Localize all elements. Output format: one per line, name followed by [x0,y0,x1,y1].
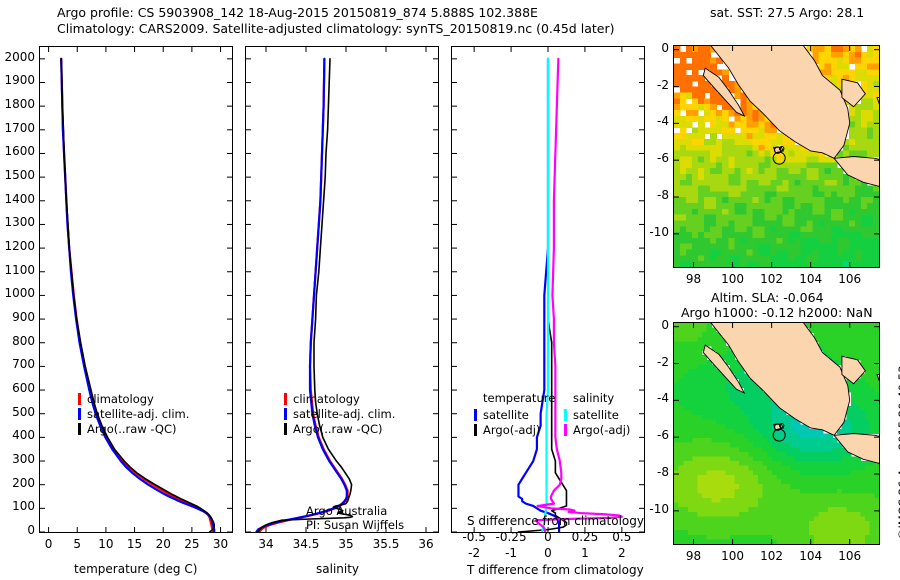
tick-label: 1100 [4,263,35,277]
tick-label: -8 [657,188,669,202]
sla-map-plot [674,323,879,544]
figure-title-line2: Climatology: CARS2009. Satellite-adjuste… [57,21,614,36]
tick-label: 35.5 [373,537,400,551]
sla-map-title-line1: Altim. SLA: -0.064 [711,290,824,305]
tick-label: 1900 [4,73,35,87]
legend-group-header: temperature [474,391,564,407]
tick-label: 400 [12,428,35,442]
temperature-profile-plot [40,47,232,532]
legend-swatch-argo-raw [78,423,81,435]
legend-label: Argo(-adj) [483,423,540,437]
tick-label: -1 [505,546,517,560]
legend-item: satellite-adj. clim. [284,406,395,421]
tick-label: 600 [12,381,35,395]
tick-label: -8 [657,465,669,479]
legend-label: climatology [87,392,154,406]
tick-label: 102 [760,549,783,563]
tick-label: 34 [258,537,273,551]
legend-item: climatology [78,391,189,406]
legend-group-header: salinity [564,391,654,407]
legend-label: climatology [293,392,360,406]
tick-label: 15 [127,537,142,551]
tick-label: 1 [581,546,589,560]
difference-s-axis-label: S difference from climatology [467,514,644,528]
sst-map-title: sat. SST: 27.5 Argo: 28.1 [710,5,864,20]
tick-label: 2 [618,546,626,560]
legend-item: satellite [564,407,654,422]
tick-label: 2000 [4,50,35,64]
tick-label: 800 [12,334,35,348]
legend-item: Argo(-adj) [474,422,564,437]
legend-swatch-temperature-argo-adj [474,424,477,436]
tick-label: -0.5 [462,530,485,544]
tick-label: -10 [649,225,669,239]
legend-item: satellite-adj. clim. [78,406,189,421]
legend-swatch-salinity-argo-adj [564,424,567,436]
tick-label: 35 [338,537,353,551]
salinity-profile-plot [246,47,438,532]
sst-map-plot [674,46,879,267]
legend-label: satellite [573,408,619,422]
legend-item: Argo(-adj) [564,422,654,437]
sla-map-panel [673,322,880,545]
difference-legend-col-temperature: temperature satellite Argo(-adj) [474,391,564,437]
tick-label: 0.25 [572,530,599,544]
tick-label: 1000 [4,286,35,300]
tick-label: 104 [799,549,822,563]
difference-legend-col-salinity: salinity satellite Argo(-adj) [564,391,654,437]
legend-label: satellite [483,408,529,422]
tick-label: 0 [27,523,35,537]
tick-label: 300 [12,452,35,466]
difference-profile-plot [452,47,644,532]
tick-label: 0 [544,546,552,560]
salinity-x-axis-label: salinity [316,562,359,576]
legend-label: Argo(..raw -QC) [87,422,177,436]
tick-label: 1700 [4,121,35,135]
tick-label: 200 [12,476,35,490]
salinity-legend: climatology satellite-adj. clim. Argo(..… [284,391,395,436]
tick-label: 102 [760,272,783,286]
legend-swatch-climatology [284,393,287,405]
tick-label: 30 [213,537,228,551]
tick-label: 1200 [4,239,35,253]
tick-label: 36 [418,537,433,551]
tick-label: -4 [657,114,669,128]
tick-label: 0 [544,530,552,544]
tick-label: -0.25 [496,530,527,544]
legend-swatch-satellite-adj-clim [78,408,81,420]
legend-label: Argo(..raw -QC) [293,422,383,436]
tick-label: 1500 [4,168,35,182]
temperature-profile-panel [39,46,233,533]
copyright-notice: ©IMOS 26-Aug-2015 20:40:53 [896,365,900,540]
legend-item: Argo(..raw -QC) [78,421,189,436]
tick-label: -2 [468,546,480,560]
program-attribution-line2: PI: Susan Wijffels [306,518,404,532]
legend-swatch-satellite-adj-clim [284,408,287,420]
program-attribution-line1: Argo Australia [306,504,387,518]
legend-item: satellite [474,407,564,422]
tick-label: 25 [184,537,199,551]
tick-label: 5 [73,537,81,551]
tick-label: 100 [721,549,744,563]
legend-swatch-argo-raw [284,423,287,435]
difference-t-axis-label: T difference from climatology [467,563,644,577]
difference-legend: temperature satellite Argo(-adj) salinit… [474,391,654,437]
tick-label: 1300 [4,215,35,229]
tick-label: 100 [721,272,744,286]
tick-label: -4 [657,391,669,405]
tick-label: 104 [799,272,822,286]
tick-label: 0 [45,537,53,551]
tick-label: 700 [12,357,35,371]
legend-item: Argo(..raw -QC) [284,421,395,436]
sst-map-panel [673,45,880,268]
tick-label: -2 [657,78,669,92]
tick-label: 98 [686,272,701,286]
sla-map-title-line2: Argo h1000: -0.12 h2000: NaN [681,305,873,320]
tick-label: 1800 [4,97,35,111]
tick-label: 34.5 [293,537,320,551]
difference-profile-panel [451,46,645,533]
legend-swatch-salinity-satellite [564,409,567,421]
tick-label: -2 [657,355,669,369]
tick-label: 0.5 [612,530,631,544]
tick-label: -10 [649,502,669,516]
tick-label: 106 [838,272,861,286]
tick-label: 0 [661,318,669,332]
tick-label: 106 [838,549,861,563]
tick-label: 100 [12,499,35,513]
figure-title-line1: Argo profile: CS 5903908_142 18-Aug-2015… [57,5,538,20]
tick-label: 10 [98,537,113,551]
tick-label: 0 [661,41,669,55]
legend-label: satellite-adj. clim. [87,407,189,421]
legend-label: satellite-adj. clim. [293,407,395,421]
tick-label: 900 [12,310,35,324]
tick-label: -6 [657,151,669,165]
tick-label: 20 [156,537,171,551]
legend-swatch-climatology [78,393,81,405]
legend-swatch-temperature-satellite [474,409,477,421]
tick-label: 1600 [4,144,35,158]
tick-label: 98 [686,549,701,563]
legend-label: Argo(-adj) [573,423,630,437]
tick-label: 500 [12,405,35,419]
temperature-legend: climatology satellite-adj. clim. Argo(..… [78,391,189,436]
tick-label: 1400 [4,192,35,206]
tick-label: -6 [657,428,669,442]
salinity-profile-panel [245,46,439,533]
temperature-x-axis-label: temperature (deg C) [74,562,197,576]
legend-item: climatology [284,391,395,406]
